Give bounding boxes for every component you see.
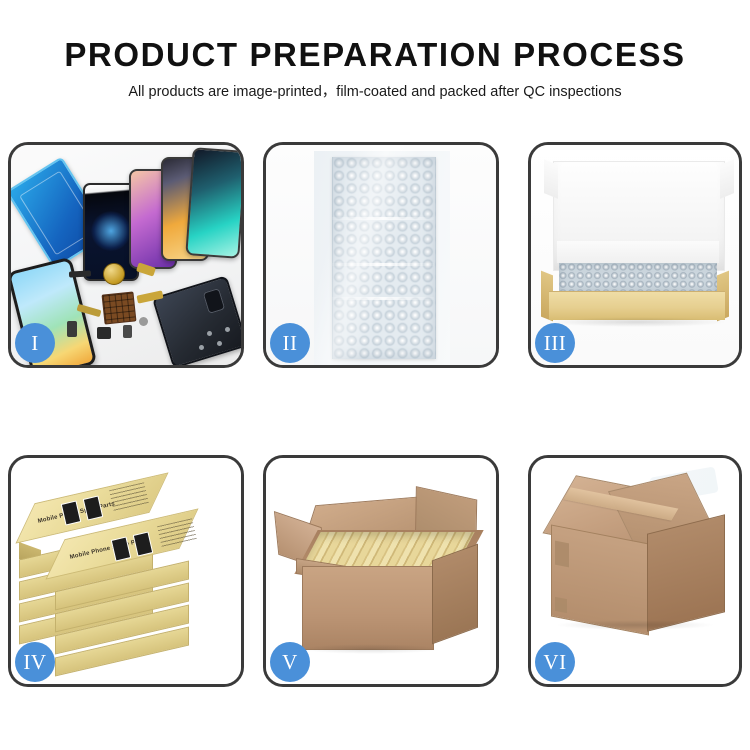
phone-back-housing-icon [152,275,241,365]
process-step-1: I [8,142,244,368]
spare-part-icon [67,321,77,337]
process-step-6: VI [528,455,742,687]
spare-part-icon [139,317,148,326]
wrap-seam-icon [332,217,434,220]
carton-side-panel-icon [647,514,725,631]
bubble-wrap-icon [332,157,436,359]
carton-front-panel-icon [302,566,434,650]
product-preparation-infographic: PRODUCT PREPARATION PROCESS All products… [0,0,750,750]
step-badge-1: I [15,323,55,363]
speaker-module-icon [103,263,125,285]
spare-part-icon [123,325,132,338]
drop-shadow [547,317,727,327]
tape-patch-icon [555,597,567,613]
drop-shadow [555,620,715,630]
spare-part-icon [97,327,111,339]
bubble-wrapped-product-icon [559,263,717,293]
logic-board-chip-icon [102,291,137,324]
step-badge-4: IV [15,642,55,682]
carton-side-panel-icon [432,544,478,645]
wrap-seam-icon [332,263,434,266]
spare-part-icon [69,270,91,277]
phone-screen-teal-icon [185,147,241,259]
process-step-grid: I II III [8,142,742,688]
step-badge-3: III [535,323,575,363]
drop-shadow [300,644,440,654]
process-step-3: III [528,142,742,368]
step-badge-5: V [270,642,310,682]
box-front-panel-icon [549,291,725,320]
process-step-5: V [263,455,499,687]
wrap-seam-icon [332,297,434,300]
carton-front-panel-icon [551,524,649,635]
tape-patch-icon [555,541,569,568]
process-step-2: II [263,142,499,368]
page-subtitle: All products are image-printed，film-coat… [0,71,750,100]
screw-icon [225,327,230,332]
screw-icon [217,341,222,346]
header: PRODUCT PREPARATION PROCESS All products… [0,0,750,100]
foam-padding-icon [557,241,719,263]
step-badge-2: II [270,323,310,363]
screw-icon [199,345,204,350]
process-step-4: Mobile Phone Spare Parts Mobile Phone Sp… [8,455,244,687]
page-title: PRODUCT PREPARATION PROCESS [0,0,750,71]
screw-icon [207,331,212,336]
step-badge-6: VI [535,642,575,682]
